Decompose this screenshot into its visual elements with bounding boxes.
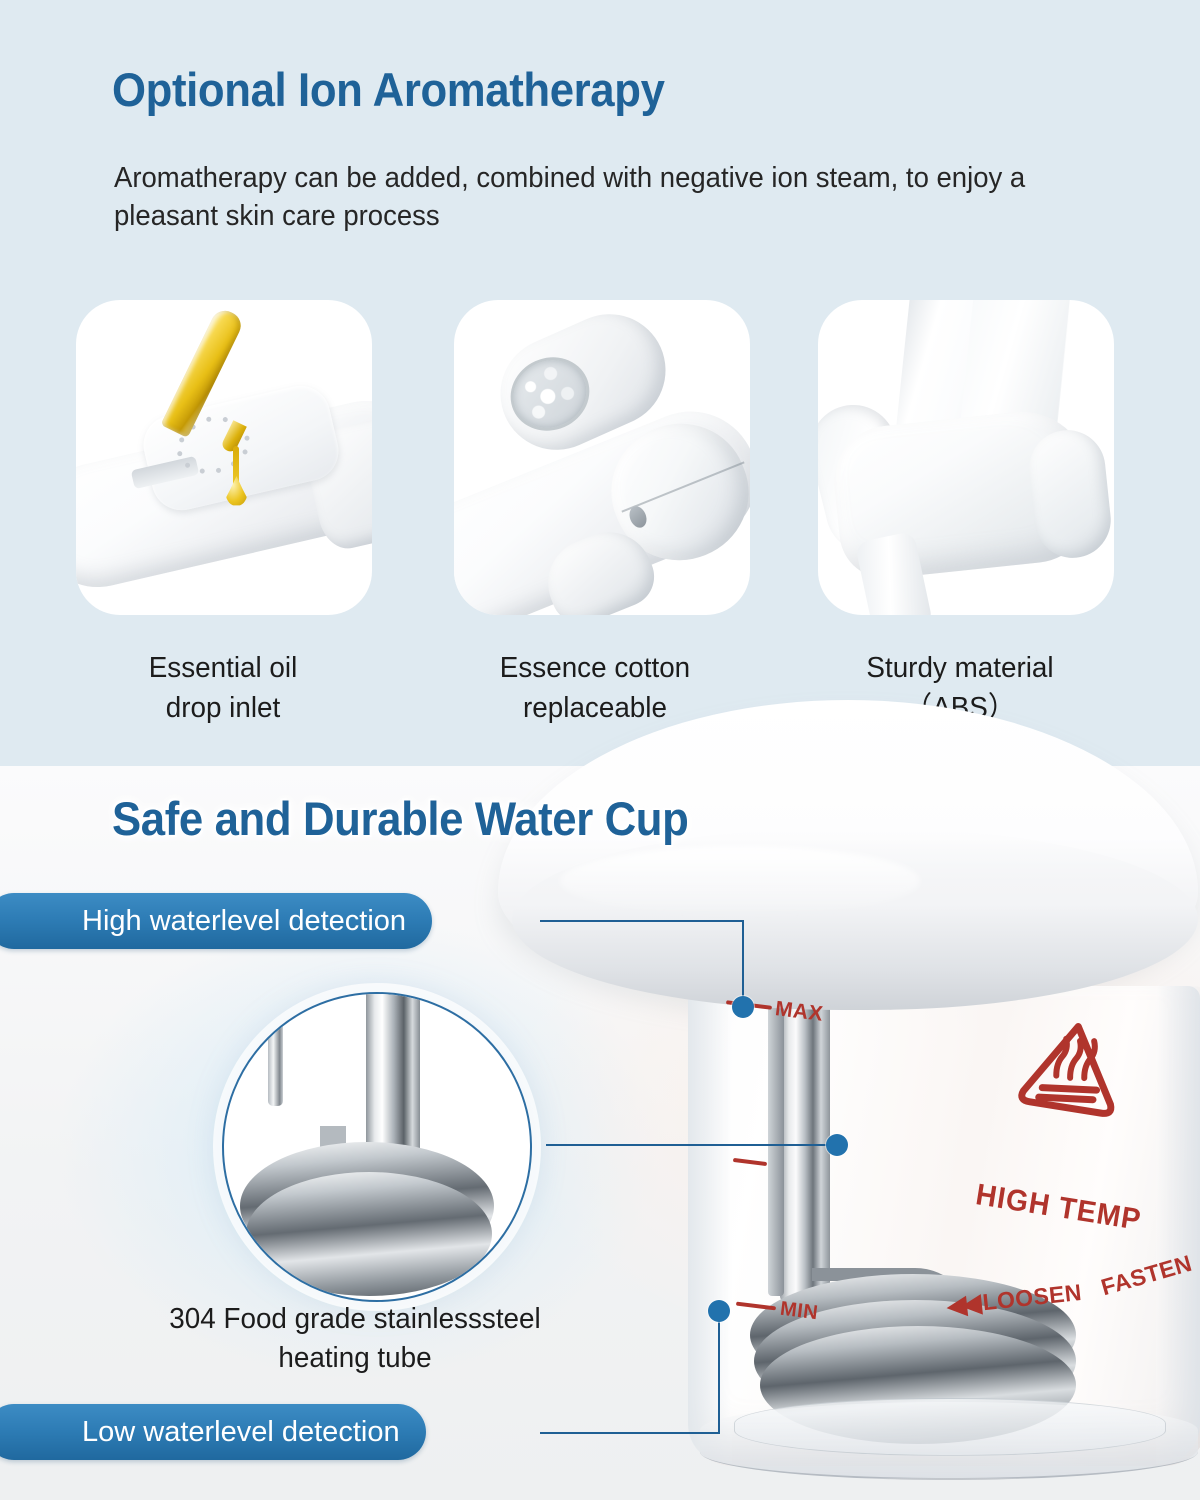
cup-right-wall-icon <box>1156 986 1200 1464</box>
leader-line-low-h <box>540 1432 720 1434</box>
callout-high-label: High waterlevel detection <box>82 905 406 938</box>
aromatherapy-heading: Optional Ion Aromatherapy <box>112 62 665 117</box>
leader-dot-low <box>708 1300 730 1322</box>
water-cup-heading: Safe and Durable Water Cup <box>112 791 688 846</box>
cup-base-inner-icon <box>734 1398 1166 1456</box>
temperature-probe-icon <box>768 1000 784 1296</box>
probe-pin-icon <box>268 1000 283 1106</box>
leader-dot-high <box>732 996 754 1018</box>
aromatherapy-section: Optional Ion Aromatherapy Aromatherapy c… <box>0 0 1200 766</box>
dome-highlight-icon <box>560 846 920 916</box>
leader-line-low-v <box>718 1310 720 1434</box>
card-essential-oil-inlet <box>76 300 372 615</box>
min-label: MIN <box>779 1298 820 1325</box>
callout-low-waterlevel[interactable]: Low waterlevel detection <box>0 1404 426 1460</box>
caption-heating-tube: 304 Food grade stainlesssteelheating tub… <box>72 1300 638 1379</box>
feature-card-row <box>0 300 1200 620</box>
leader-line-high-v <box>742 920 744 1006</box>
callout-low-label: Low waterlevel detection <box>82 1416 400 1449</box>
cup-left-wall-icon <box>688 986 732 1464</box>
callout-high-waterlevel[interactable]: High waterlevel detection <box>0 893 432 949</box>
hot-surface-warning-icon <box>1013 1010 1131 1121</box>
leader-dot-steel <box>826 1134 848 1156</box>
product-infographic: Optional Ion Aromatherapy Aromatherapy c… <box>0 0 1200 1500</box>
heating-tube-magnifier-inset <box>222 992 532 1302</box>
loosen-arrow-icon: ◀◀ <box>945 1290 977 1320</box>
card-essence-cotton <box>454 300 750 615</box>
card-sturdy-material <box>818 300 1114 615</box>
card-caption-essential-oil: Essential oildrop inlet <box>65 648 382 728</box>
leader-line-high-h <box>540 920 744 922</box>
aromatherapy-description: Aromatherapy can be added, combined with… <box>114 160 1040 235</box>
heating-tube-stem-icon <box>780 996 830 1302</box>
leader-line-steel <box>546 1144 836 1146</box>
